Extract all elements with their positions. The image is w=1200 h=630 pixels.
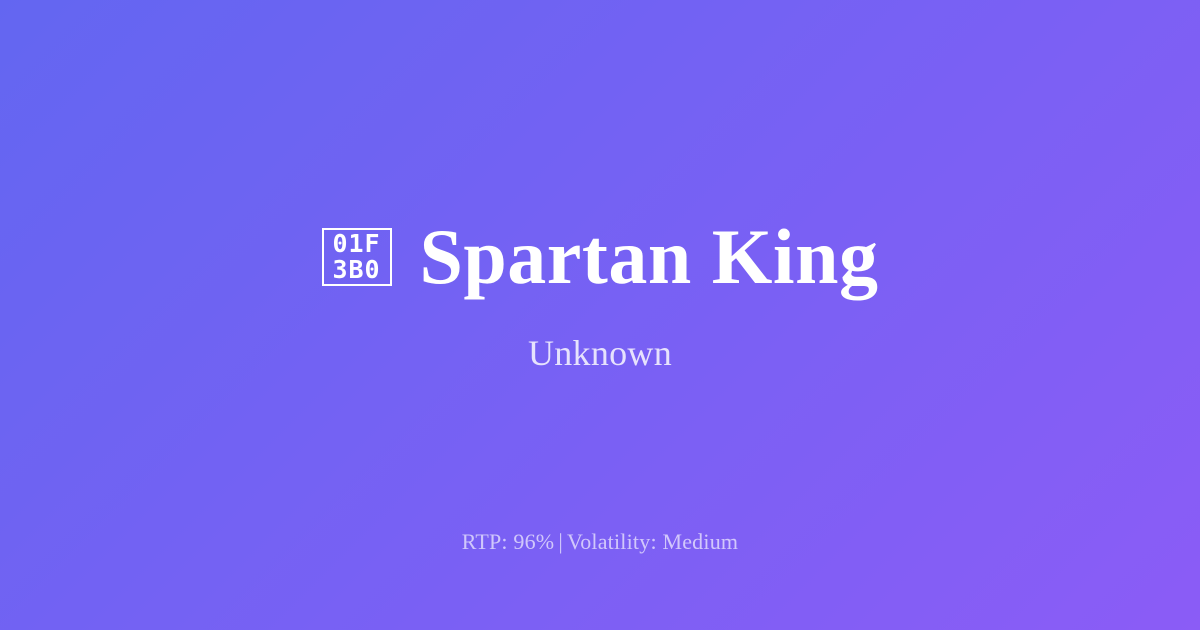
slot-machine-icon: 01F 3B0 <box>322 228 392 286</box>
tofu-codepoint-bottom: 3B0 <box>332 257 380 283</box>
game-title: Spartan King <box>420 216 879 298</box>
game-preview-card: 01F 3B0 Spartan King Unknown RTP: 96%|Vo… <box>0 0 1200 630</box>
tofu-codepoint-top: 01F <box>332 231 380 257</box>
stats-separator: | <box>554 529 567 554</box>
volatility-stat: Volatility: Medium <box>567 529 738 554</box>
game-provider: Unknown <box>528 332 672 375</box>
game-stats-line: RTP: 96%|Volatility: Medium <box>0 528 1200 556</box>
title-row: 01F 3B0 Spartan King <box>322 216 879 298</box>
rtp-stat: RTP: 96% <box>462 529 555 554</box>
